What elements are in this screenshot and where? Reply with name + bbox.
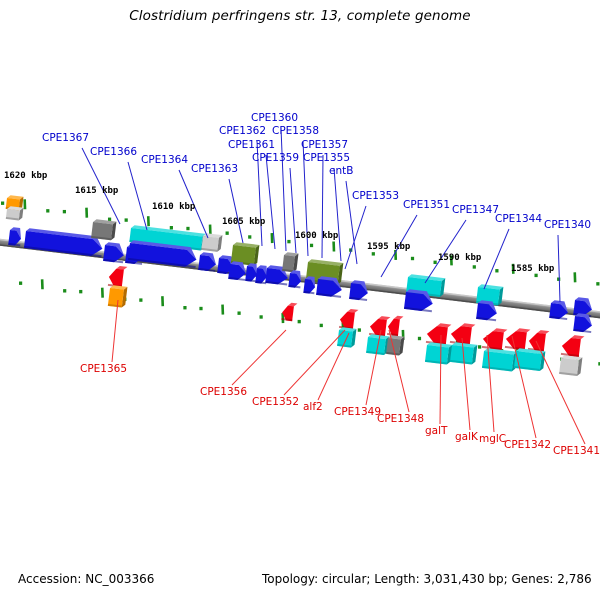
rna-tick-mark	[147, 216, 150, 226]
rna-dot-mark	[226, 231, 229, 234]
rna-dot-mark	[46, 209, 49, 212]
gene-arrow	[288, 270, 302, 289]
rna-dot-mark	[596, 282, 599, 285]
genome-stats-text: Topology: circular; Length: 3,031,430 bp…	[262, 572, 592, 586]
gene-label[interactable]: galT	[425, 425, 448, 437]
scale-tick-label: 1615 kbp	[75, 186, 119, 196]
rna-dot-mark	[418, 337, 421, 340]
rna-tick-mark	[161, 296, 164, 306]
gene-label[interactable]: CPE1363	[191, 163, 238, 175]
gene-arrow	[349, 280, 369, 301]
scale-tick-labels: 1620 kbp1615 kbp1610 kbp1605 kbp1600 kbp…	[4, 171, 555, 274]
gene-label[interactable]: CPE1366	[90, 146, 137, 158]
gene-arrow	[561, 334, 585, 358]
forward-gene-labels: CPE1367CPE1366CPE1364CPE1363CPE1362CPE13…	[42, 112, 591, 231]
gene-arrow	[482, 327, 508, 351]
scale-tick-label: 1605 kbp	[222, 217, 266, 227]
gene-box	[201, 233, 222, 252]
gene-label[interactable]: CPE1355	[303, 152, 350, 164]
leader-line	[318, 333, 349, 400]
leader-line	[345, 206, 366, 269]
leader-line	[484, 229, 509, 289]
rna-dot-mark	[358, 328, 361, 331]
leader-line	[558, 235, 560, 302]
gene-box	[282, 252, 298, 273]
leader-line	[128, 162, 147, 230]
rna-tick-mark	[23, 199, 26, 209]
rna-dot-mark	[534, 274, 537, 277]
gene-arrow	[505, 327, 531, 351]
gene-label[interactable]: CPE1360	[251, 112, 298, 124]
genome-map-viewer: Clostridium perfringens str. 13, complet…	[0, 0, 600, 600]
gene-label[interactable]: CPE1358	[272, 125, 319, 137]
rna-dot-mark	[298, 320, 301, 323]
rna-dot-mark	[260, 315, 263, 318]
leader-line	[281, 128, 286, 251]
rna-tick-mark	[85, 208, 88, 218]
scale-tick-label: 1600 kbp	[295, 231, 339, 241]
rna-dot-mark	[79, 290, 82, 293]
gene-arrow	[108, 265, 128, 288]
rna-dot-mark	[310, 244, 313, 247]
rna-tick-mark	[101, 288, 104, 298]
leader-line	[112, 300, 118, 362]
gene-arrow	[281, 302, 297, 322]
accession-text: Accession: NC_003366	[18, 572, 154, 586]
rna-tick-mark	[41, 279, 44, 289]
leader-line	[425, 220, 466, 283]
gene-box	[91, 219, 116, 241]
rna-dot-mark	[186, 227, 189, 230]
rna-dot-mark	[199, 307, 202, 310]
gene-label[interactable]: alf2	[303, 401, 323, 413]
leader-line	[232, 330, 286, 385]
genome-map-canvas: 1620 kbp1615 kbp1610 kbp1605 kbp1600 kbp…	[0, 0, 600, 600]
gene-label[interactable]: CPE1364	[141, 154, 188, 166]
rna-dot-mark	[411, 257, 414, 260]
gene-box	[482, 348, 517, 372]
rna-dot-mark	[170, 226, 173, 229]
gene-arrow	[339, 308, 359, 330]
rna-dot-mark	[495, 269, 498, 272]
rna-dot-mark	[125, 218, 128, 221]
gene-label[interactable]: CPE1344	[495, 213, 542, 225]
gene-label[interactable]: CPE1356	[200, 386, 247, 398]
rna-dot-mark	[434, 261, 437, 264]
gene-arrow	[549, 300, 569, 320]
scale-tick-label: 1595 kbp	[367, 242, 411, 252]
gene-label[interactable]: entB	[329, 165, 353, 177]
leader-line	[266, 155, 275, 249]
gene-label[interactable]: CPE1342	[504, 439, 551, 451]
gene-label[interactable]: CPE1352	[252, 396, 299, 408]
rna-tick-mark	[209, 225, 212, 235]
leader-line	[322, 155, 323, 258]
rna-dot-mark	[1, 202, 4, 205]
gene-label[interactable]: CPE1340	[544, 219, 591, 231]
gene-box	[386, 335, 404, 356]
rna-dot-mark	[237, 311, 240, 314]
scale-tick-label: 1585 kbp	[511, 264, 555, 274]
gene-box	[6, 206, 24, 221]
gene-label[interactable]: galK	[455, 431, 479, 443]
rna-dot-mark	[108, 218, 111, 221]
gene-label[interactable]: CPE1359	[252, 152, 299, 164]
rna-dot-mark	[183, 306, 186, 309]
gene-label[interactable]: CPE1348	[377, 413, 424, 425]
rna-dot-mark	[63, 289, 66, 292]
gene-label[interactable]: CPE1365	[80, 363, 127, 375]
gene-box	[425, 342, 452, 365]
gene-label[interactable]: CPE1361	[228, 139, 275, 151]
rna-tick-mark	[573, 272, 576, 282]
scale-tick-label: 1610 kbp	[152, 202, 196, 212]
gene-box	[559, 355, 582, 377]
gene-arrow	[426, 322, 452, 346]
rna-dot-mark	[372, 252, 375, 255]
rna-dot-mark	[248, 235, 251, 238]
gene-label[interactable]: CPE1362	[219, 125, 266, 137]
rna-tick-mark	[221, 305, 224, 315]
gene-arrow	[528, 329, 550, 352]
scale-tick-label: 1590 kbp	[438, 253, 482, 263]
rna-tick-mark	[332, 241, 335, 251]
rna-dot-mark	[320, 324, 323, 327]
scale-tick-label: 1620 kbp	[4, 171, 48, 181]
rna-dot-mark	[63, 210, 66, 213]
rna-dot-mark	[139, 298, 142, 301]
rna-dot-mark	[478, 345, 481, 348]
rna-dot-mark	[473, 265, 476, 268]
gene-label[interactable]: CPE1349	[334, 406, 381, 418]
leader-line	[229, 179, 243, 243]
gene-label[interactable]: CPE1347	[452, 204, 499, 216]
gene-label[interactable]: CPE1353	[352, 190, 399, 202]
gene-label[interactable]: CPE1351	[403, 199, 450, 211]
gene-label[interactable]: CPE1341	[553, 445, 600, 457]
gene-label[interactable]: CPE1357	[301, 139, 348, 151]
gene-label[interactable]: mglC	[479, 433, 506, 445]
rna-tick-mark	[271, 233, 274, 243]
rna-dot-mark	[19, 282, 22, 285]
rna-dot-mark	[287, 240, 290, 243]
gene-label[interactable]: CPE1367	[42, 132, 89, 144]
